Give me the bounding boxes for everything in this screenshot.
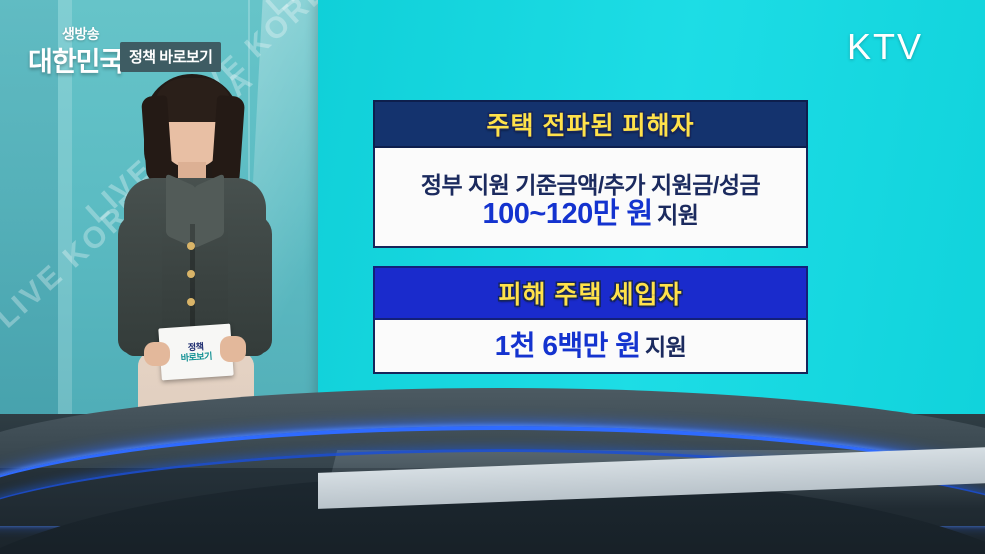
segment-badge: 정책 바로보기	[120, 42, 221, 72]
anchor-sleeve-right	[228, 214, 272, 354]
program-bug: 생방송 대한민국 정책 바로보기	[20, 26, 260, 74]
info-panel-tenant: 피해 주택 세입자 1천 6백만 원 지원	[373, 266, 808, 374]
anchor-hair-right	[211, 95, 245, 189]
panel-header-title: 피해 주택 세입자	[499, 275, 683, 311]
anchor-hand-right	[220, 336, 246, 362]
anchor-prop-card-text: 정책 바로보기	[180, 341, 212, 364]
anchor-sleeve-left	[118, 214, 162, 354]
prop-card-line-1: 정책	[188, 341, 204, 352]
panel-header-title: 주택 전파된 피해자	[487, 106, 695, 142]
panel-detail-line: 정부 지원 기준금액/추가 지원금/성금	[421, 166, 760, 200]
panel-amount-suffix: 지원	[657, 202, 698, 228]
panel-header: 주택 전파된 피해자	[373, 100, 808, 148]
anchor-hand-left	[144, 342, 170, 366]
program-title: 대한민국	[28, 40, 123, 79]
broadcast-frame: LIVE KOREA LIVE KOREA LIVE KOREA LIVE KO…	[0, 0, 985, 554]
prop-card-line-2: 바로보기	[180, 351, 212, 363]
panel-amount-value: 1천 6백만 원	[495, 330, 641, 361]
panel-body: 정부 지원 기준금액/추가 지원금/성금 100~120만 원 지원	[373, 148, 808, 248]
panel-amount-line: 100~120만 원 지원	[483, 200, 699, 229]
anchor-jacket-button	[187, 298, 195, 306]
panel-amount-value: 100~120만 원	[483, 198, 653, 230]
panel-body: 1천 6백만 원 지원	[373, 320, 808, 374]
anchor-jacket-button	[187, 242, 195, 250]
panel-amount-line: 1천 6백만 원 지원	[495, 332, 687, 360]
segment-badge-label: 정책 바로보기	[129, 49, 212, 66]
info-panel-housing-destroyed: 주택 전파된 피해자 정부 지원 기준금액/추가 지원금/성금 100~120만…	[373, 100, 808, 248]
panel-amount-suffix: 지원	[645, 334, 686, 360]
anchor-jacket-button	[187, 270, 195, 278]
channel-logo: KTV	[847, 26, 923, 68]
panel-header: 피해 주택 세입자	[373, 266, 808, 320]
